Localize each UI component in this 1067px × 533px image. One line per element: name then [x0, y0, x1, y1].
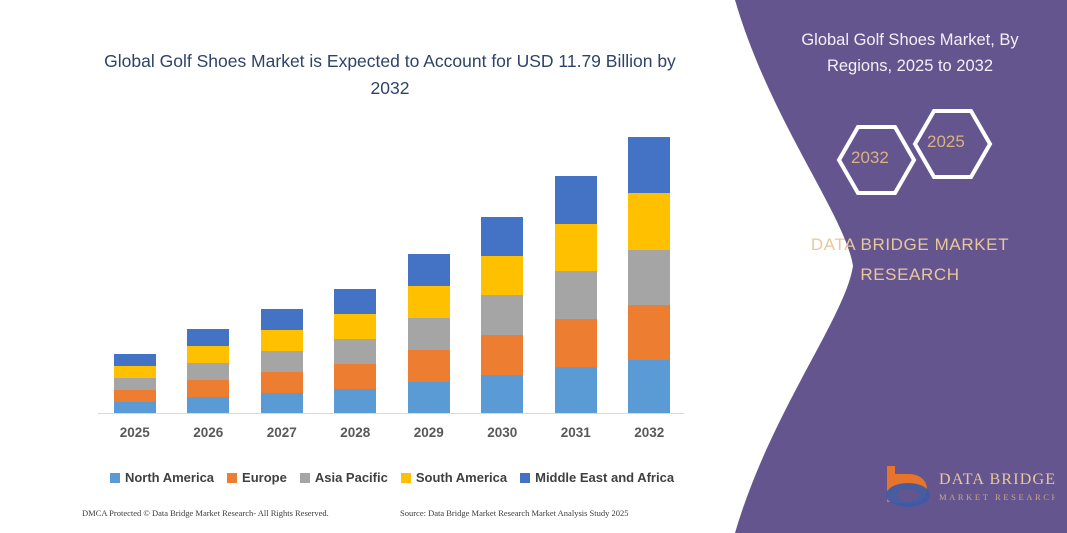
source-text: Source: Data Bridge Market Research Mark… [400, 508, 629, 518]
bar-column [173, 329, 243, 414]
stacked-bar[interactable] [261, 309, 303, 414]
bar-segment[interactable] [481, 375, 523, 414]
bar-segment[interactable] [187, 380, 229, 397]
brand-panel: Global Golf Shoes Market, By Regions, 20… [690, 0, 1067, 533]
bar-column [467, 217, 537, 414]
legend-swatch-icon [300, 473, 310, 483]
bar-segment[interactable] [481, 335, 523, 375]
bar-column [394, 254, 464, 414]
bar-segment[interactable] [187, 397, 229, 414]
bar-segment[interactable] [187, 346, 229, 363]
company-logo: DATA BRIDGE MARKET RESEARCH [875, 462, 1055, 510]
bar-segment[interactable] [114, 366, 156, 378]
chart-legend: North AmericaEuropeAsia PacificSouth Ame… [98, 470, 686, 485]
x-axis-tick-label: 2027 [247, 425, 317, 440]
x-axis-tick-label: 2030 [467, 425, 537, 440]
legend-label: Asia Pacific [315, 470, 388, 485]
stacked-bar[interactable] [628, 137, 670, 414]
x-axis-tick-label: 2028 [320, 425, 390, 440]
stacked-bar-group [98, 120, 686, 414]
bar-segment[interactable] [628, 305, 670, 360]
bar-segment[interactable] [555, 224, 597, 271]
x-axis-tick-label: 2031 [541, 425, 611, 440]
x-axis-tick-label: 2032 [614, 425, 684, 440]
logo-mark-icon [886, 466, 930, 507]
bar-segment[interactable] [481, 217, 523, 256]
logo-text-line-1: DATA BRIDGE [939, 471, 1055, 488]
legend-label: North America [125, 470, 214, 485]
stacked-bar[interactable] [334, 289, 376, 414]
infographic-canvas: Global Golf Shoes Market is Expected to … [0, 0, 1067, 533]
footer: DMCA Protected © Data Bridge Market Rese… [0, 508, 700, 528]
bar-segment[interactable] [628, 360, 670, 414]
x-axis-tick-label: 2025 [100, 425, 170, 440]
stacked-bar[interactable] [555, 176, 597, 414]
stacked-bar[interactable] [408, 254, 450, 414]
bar-segment[interactable] [261, 372, 303, 393]
bar-segment[interactable] [114, 354, 156, 366]
bar-column [614, 137, 684, 414]
copyright-text: DMCA Protected © Data Bridge Market Rese… [82, 508, 329, 518]
legend-label: South America [416, 470, 507, 485]
bar-segment[interactable] [261, 351, 303, 372]
legend-swatch-icon [227, 473, 237, 483]
chart-plot-area [98, 120, 686, 414]
bar-column [247, 309, 317, 414]
legend-item[interactable]: South America [401, 470, 507, 485]
bar-segment[interactable] [334, 389, 376, 414]
brand-line-1: DATA BRIDGE MARKET [811, 235, 1009, 254]
hexagon-front-year: 2025 [927, 132, 965, 152]
panel-title: Global Golf Shoes Market, By Regions, 20… [775, 27, 1045, 80]
bar-segment[interactable] [408, 254, 450, 286]
bar-segment[interactable] [187, 329, 229, 346]
brand-line-2: RESEARCH [860, 265, 959, 284]
bar-segment[interactable] [408, 350, 450, 382]
bar-segment[interactable] [261, 330, 303, 351]
logo-text-line-2: MARKET RESEARCH [939, 492, 1055, 502]
bar-segment[interactable] [408, 382, 450, 414]
bar-segment[interactable] [481, 295, 523, 335]
bar-segment[interactable] [114, 390, 156, 402]
hexagon-back-year: 2032 [851, 148, 889, 168]
bar-segment[interactable] [555, 319, 597, 367]
bar-segment[interactable] [334, 339, 376, 364]
page-title: Global Golf Shoes Market is Expected to … [100, 48, 680, 102]
stacked-bar[interactable] [187, 329, 229, 414]
legend-swatch-icon [401, 473, 411, 483]
bar-segment[interactable] [408, 318, 450, 350]
x-axis-line [98, 413, 684, 414]
legend-swatch-icon [110, 473, 120, 483]
bar-segment[interactable] [555, 271, 597, 319]
bar-segment[interactable] [261, 393, 303, 414]
stacked-bar[interactable] [114, 354, 156, 414]
bar-segment[interactable] [334, 289, 376, 314]
brand-name: DATA BRIDGE MARKET RESEARCH [775, 230, 1045, 290]
bar-segment[interactable] [481, 256, 523, 295]
bar-column [100, 354, 170, 414]
bar-segment[interactable] [334, 364, 376, 389]
legend-item[interactable]: Middle East and Africa [520, 470, 674, 485]
bar-segment[interactable] [114, 378, 156, 390]
bar-segment[interactable] [555, 176, 597, 224]
legend-swatch-icon [520, 473, 530, 483]
legend-item[interactable]: Asia Pacific [300, 470, 388, 485]
stacked-bar[interactable] [481, 217, 523, 414]
bar-segment[interactable] [261, 309, 303, 330]
x-axis-tick-label: 2029 [394, 425, 464, 440]
legend-item[interactable]: Europe [227, 470, 287, 485]
hexagon-badges: 2032 2025 [810, 105, 1040, 210]
bar-segment[interactable] [334, 314, 376, 339]
x-axis-labels: 20252026202720282029203020312032 [98, 420, 686, 444]
bar-column [541, 176, 611, 414]
legend-label: Middle East and Africa [535, 470, 674, 485]
bar-segment[interactable] [555, 367, 597, 414]
bar-segment[interactable] [628, 250, 670, 305]
bar-column [320, 289, 390, 414]
bar-segment[interactable] [628, 137, 670, 193]
legend-item[interactable]: North America [110, 470, 214, 485]
bar-segment[interactable] [187, 363, 229, 380]
bar-segment[interactable] [628, 193, 670, 250]
x-axis-tick-label: 2026 [173, 425, 243, 440]
legend-label: Europe [242, 470, 287, 485]
bar-segment[interactable] [408, 286, 450, 318]
